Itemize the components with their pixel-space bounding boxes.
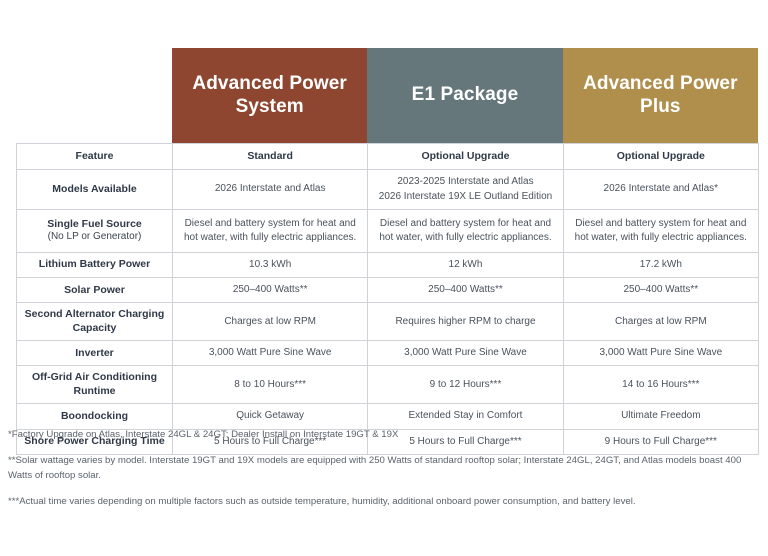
cell-line-2: 2026 Interstate 19X LE Outland Edition bbox=[374, 190, 556, 204]
column-header-feature: Feature bbox=[17, 144, 173, 170]
column-subhead-advanced-power-system: Standard bbox=[173, 144, 368, 170]
cell-value: 3,000 Watt Pure Sine Wave bbox=[173, 341, 368, 366]
feature-label: Single Fuel Source (No LP or Generator) bbox=[17, 210, 173, 253]
cell-value: Extended Stay in Comfort bbox=[368, 404, 563, 429]
feature-label: Models Available bbox=[17, 170, 173, 210]
cell-value: 3,000 Watt Pure Sine Wave bbox=[368, 341, 563, 366]
cell-value: 17.2 kWh bbox=[563, 253, 758, 278]
table-row-subheads: Feature Standard Optional Upgrade Option… bbox=[17, 144, 759, 170]
footnote-single-asterisk: *Factory Upgrade on Atlas, Interstate 24… bbox=[8, 428, 760, 442]
feature-label: Off-Grid Air Conditioning Runtime bbox=[17, 366, 173, 404]
cell-line-2: hot water, with fully electric appliance… bbox=[374, 231, 556, 245]
footnote-double-asterisk: **Solar wattage varies by model. Interst… bbox=[8, 454, 760, 483]
specs-comparison-table: Feature Standard Optional Upgrade Option… bbox=[16, 143, 759, 455]
cell-line-1: 2026 Interstate and Atlas bbox=[179, 182, 361, 196]
column-subhead-e1-package: Optional Upgrade bbox=[368, 144, 563, 170]
feature-label: Inverter bbox=[17, 341, 173, 366]
cell-line-2: hot water, with fully electric appliance… bbox=[179, 231, 361, 245]
cell-value: 2023-2025 Interstate and Atlas 2026 Inte… bbox=[368, 170, 563, 210]
cell-value: Quick Getaway bbox=[173, 404, 368, 429]
feature-label-main: Second Alternator bbox=[25, 308, 116, 320]
cell-value: 14 to 16 Hours*** bbox=[563, 366, 758, 404]
cell-value: Diesel and battery system for heat and h… bbox=[368, 210, 563, 253]
cell-value: 12 kWh bbox=[368, 253, 563, 278]
cell-value: Diesel and battery system for heat and h… bbox=[563, 210, 758, 253]
cell-value: Diesel and battery system for heat and h… bbox=[173, 210, 368, 253]
feature-label-line-2: Runtime bbox=[74, 385, 116, 397]
cell-value: 2026 Interstate and Atlas bbox=[173, 170, 368, 210]
cell-line-1: Diesel and battery system for heat and bbox=[570, 217, 752, 231]
table-row: Second Alternator Charging Capacity Char… bbox=[17, 303, 759, 341]
feature-label: Second Alternator Charging Capacity bbox=[17, 303, 173, 341]
table-row: Inverter 3,000 Watt Pure Sine Wave 3,000… bbox=[17, 341, 759, 366]
header-advanced-power-system: Advanced Power System bbox=[172, 48, 367, 143]
footnote-triple-asterisk: ***Actual time varies depending on multi… bbox=[8, 495, 760, 509]
package-header-band: Advanced Power System E1 Package Advance… bbox=[172, 48, 758, 143]
column-subhead-advanced-power-plus: Optional Upgrade bbox=[563, 144, 758, 170]
cell-value: 10.3 kWh bbox=[173, 253, 368, 278]
feature-label: Solar Power bbox=[17, 278, 173, 303]
cell-line-1: Diesel and battery system for heat and bbox=[179, 217, 361, 231]
cell-value: Charges at low RPM bbox=[563, 303, 758, 341]
table-row: Solar Power 250–400 Watts** 250–400 Watt… bbox=[17, 278, 759, 303]
table-row: Lithium Battery Power 10.3 kWh 12 kWh 17… bbox=[17, 253, 759, 278]
table-row: Models Available 2026 Interstate and Atl… bbox=[17, 170, 759, 210]
feature-label-main: Off-Grid Air Conditioning bbox=[32, 371, 157, 383]
cell-value: 3,000 Watt Pure Sine Wave bbox=[563, 341, 758, 366]
cell-value: 250–400 Watts** bbox=[173, 278, 368, 303]
cell-value: Charges at low RPM bbox=[173, 303, 368, 341]
cell-value: 8 to 10 Hours*** bbox=[173, 366, 368, 404]
cell-value: Requires higher RPM to charge bbox=[368, 303, 563, 341]
cell-line-1: 2026 Interstate and Atlas* bbox=[570, 182, 752, 196]
cell-value: 9 to 12 Hours*** bbox=[368, 366, 563, 404]
feature-label-sub: (No LP or Generator) bbox=[23, 231, 166, 244]
header-e1-package: E1 Package bbox=[367, 48, 562, 143]
cell-line-1: Diesel and battery system for heat and bbox=[374, 217, 556, 231]
cell-value: 250–400 Watts** bbox=[368, 278, 563, 303]
cell-value: 250–400 Watts** bbox=[563, 278, 758, 303]
cell-value: Ultimate Freedom bbox=[563, 404, 758, 429]
table-row: Boondocking Quick Getaway Extended Stay … bbox=[17, 404, 759, 429]
header-advanced-power-plus: Advanced Power Plus bbox=[563, 48, 758, 143]
feature-label-main: Single Fuel Source bbox=[47, 218, 142, 230]
feature-label: Boondocking bbox=[17, 404, 173, 429]
cell-line-2: hot water, with fully electric appliance… bbox=[570, 231, 752, 245]
comparison-page: Advanced Power System E1 Package Advance… bbox=[0, 0, 768, 556]
table-row: Single Fuel Source (No LP or Generator) … bbox=[17, 210, 759, 253]
footnotes: *Factory Upgrade on Atlas, Interstate 24… bbox=[8, 428, 760, 522]
cell-value: 2026 Interstate and Atlas* bbox=[563, 170, 758, 210]
cell-line-1: 2023-2025 Interstate and Atlas bbox=[374, 175, 556, 189]
table-row: Off-Grid Air Conditioning Runtime 8 to 1… bbox=[17, 366, 759, 404]
feature-label: Lithium Battery Power bbox=[17, 253, 173, 278]
